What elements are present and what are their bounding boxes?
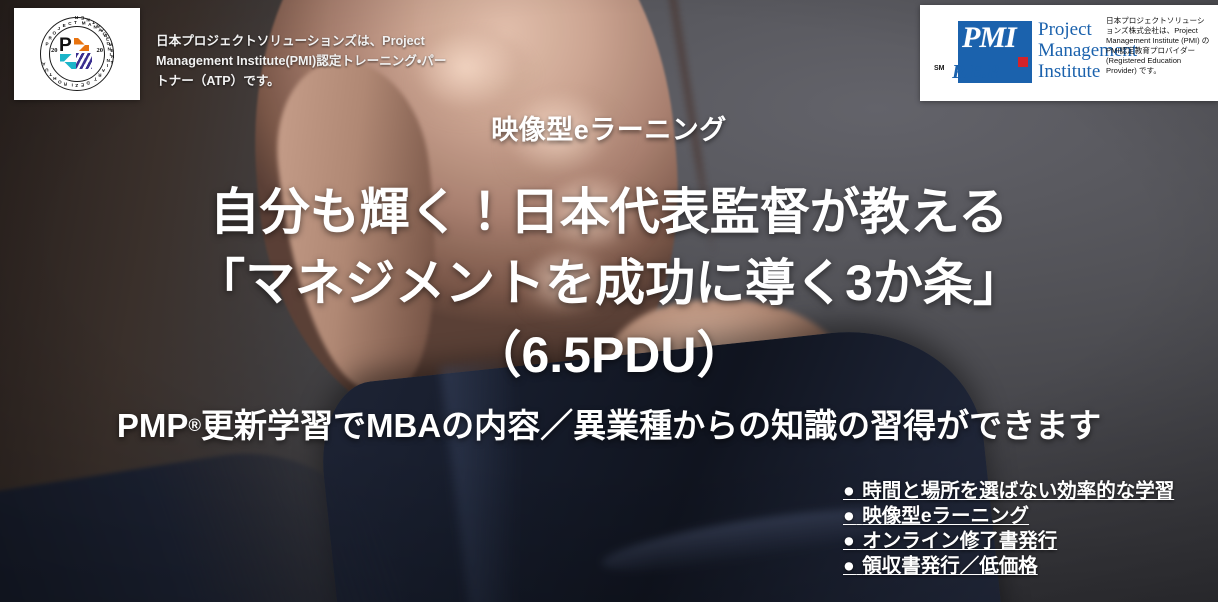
elearning-promo-banner: P R O J E C T M A N A G E M E N T A U [0,0,1218,602]
rep-badge-plate: PMI SM R.E.P. Project Management Institu… [920,5,1218,101]
seal-year-left: 20 [51,47,58,54]
bullet-icon: ● [843,555,857,577]
rep-provider-note: 日本プロジェクトソリューションズ株式会社は、Project Management… [1106,16,1210,75]
feature-item-1[interactable]: ● 時間と場所を選ばない効率的な学習 [843,479,1174,504]
bullet-icon: ● [843,505,857,527]
feature-list: ● 時間と場所を選ばない効率的な学習 ● 映像型eラーニング ● オンライン修了… [843,479,1174,579]
pmi-teal-bowtie-icon [60,54,76,69]
atp-partner-caption: 日本プロジェクトソリューションズは、Project Management Ins… [156,31,456,91]
pmi-letter-p: P [59,37,74,55]
atp-seal-icon: P R O J E C T M A N A G E M E N T A U [40,17,114,91]
headline-line-1: 自分も輝く！日本代表監督が教える [0,172,1218,244]
pmi-purple-stripes-icon [76,53,92,69]
feature-item-2[interactable]: ● 映像型eラーニング [843,504,1174,529]
rep-pmi-letters: PMI [962,23,1016,53]
feature-label: オンライン修了書発行 [862,530,1057,552]
pmi-rep-logo-icon: PMI SM R.E.P. Project Management Institu… [932,21,1102,87]
atp-badge-plate: P R O J E C T M A N A G E M E N T A U [14,8,140,100]
rep-abbreviation-label: R.E.P. [952,61,1000,84]
bullet-icon: ● [843,480,857,502]
subheadline-prefix: PMP [117,407,189,444]
subheadline-suffix: 更新学習でMBAの内容／異業種からの知識の習得ができます [201,407,1101,444]
registered-mark-icon: ® [188,415,201,435]
headline-line-2: 「マネジメントを成功に導く3か条」 [0,243,1218,315]
bullet-icon: ● [843,530,857,552]
seal-year-right: 20 [97,47,104,54]
subheadline: PMP®更新学習でMBAの内容／異業種からの知識の習得ができます [0,399,1218,447]
feature-item-4[interactable]: ● 領収書発行／低価格 [843,554,1174,579]
pmi-orange-bowtie-icon [74,38,89,51]
headline-line-3: （6.5PDU） [0,315,1218,387]
course-format-eyebrow: 映像型eラーニング [0,108,1218,147]
feature-label: 時間と場所を選ばない効率的な学習 [862,480,1174,502]
feature-label: 映像型eラーニング [862,505,1029,527]
feature-label: 領収書発行／低価格 [862,555,1038,577]
feature-item-3[interactable]: ● オンライン修了書発行 [843,529,1174,554]
service-mark-label: SM [934,65,945,72]
rep-red-accent [1018,57,1028,67]
pmi-logo-mark-icon: P [59,37,95,71]
